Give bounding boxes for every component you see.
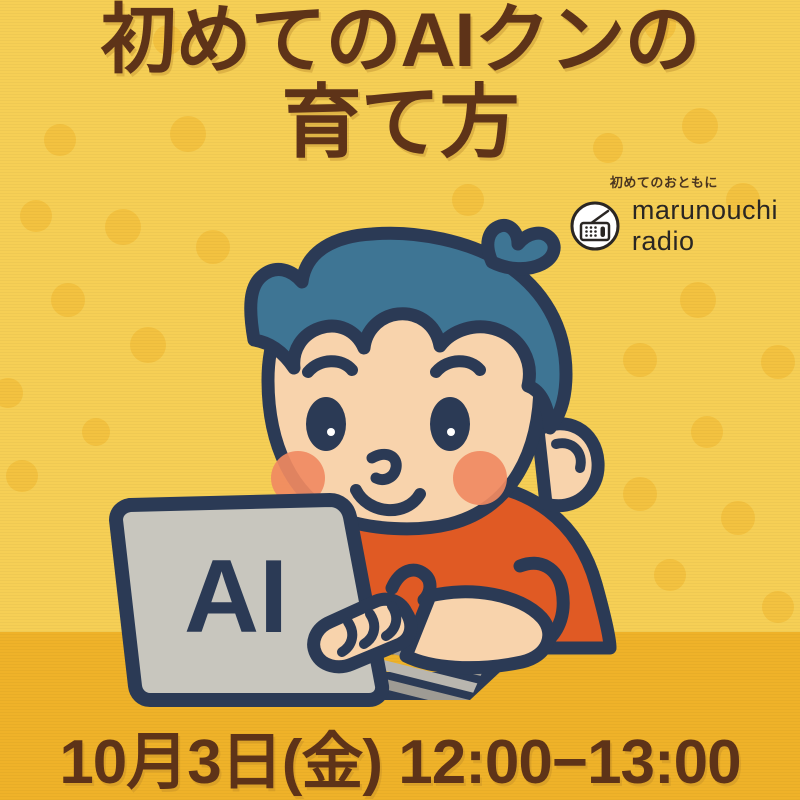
logo-word-radio: radio — [632, 228, 778, 255]
poster-title: 初めてのAIクンの 育て方 — [0, 4, 800, 163]
eye-left — [306, 397, 346, 451]
logo-wordmark: marunouchi radio — [632, 197, 778, 255]
logo-word-marunouchi: marunouchi — [632, 197, 778, 224]
radio-icon — [570, 201, 620, 251]
forearm-right — [406, 592, 549, 668]
title-line-1: 初めてのAIクンの — [0, 4, 800, 78]
eye-left-highlight — [327, 428, 335, 436]
cheek-right — [453, 451, 507, 505]
logo-tagline: 初めてのおともに — [610, 172, 778, 191]
laptop-screen-ai-label: AI — [184, 539, 288, 655]
eye-right-highlight — [447, 428, 455, 436]
character-ear-right — [538, 424, 598, 506]
poster-root: AI 初めてのAIクンの 育て方 初めてのおともに — [0, 0, 800, 800]
station-logo[interactable]: 初めてのおともに marunouchi radio — [570, 172, 778, 255]
event-date-text: 10月3日(金) 12:00−13:00 — [0, 732, 800, 794]
event-date-block: 10月3日(金) 12:00−13:00 — [0, 732, 800, 794]
title-line-2: 育て方 — [0, 84, 800, 162]
character-cowlick — [488, 225, 554, 268]
eye-right — [430, 397, 470, 451]
